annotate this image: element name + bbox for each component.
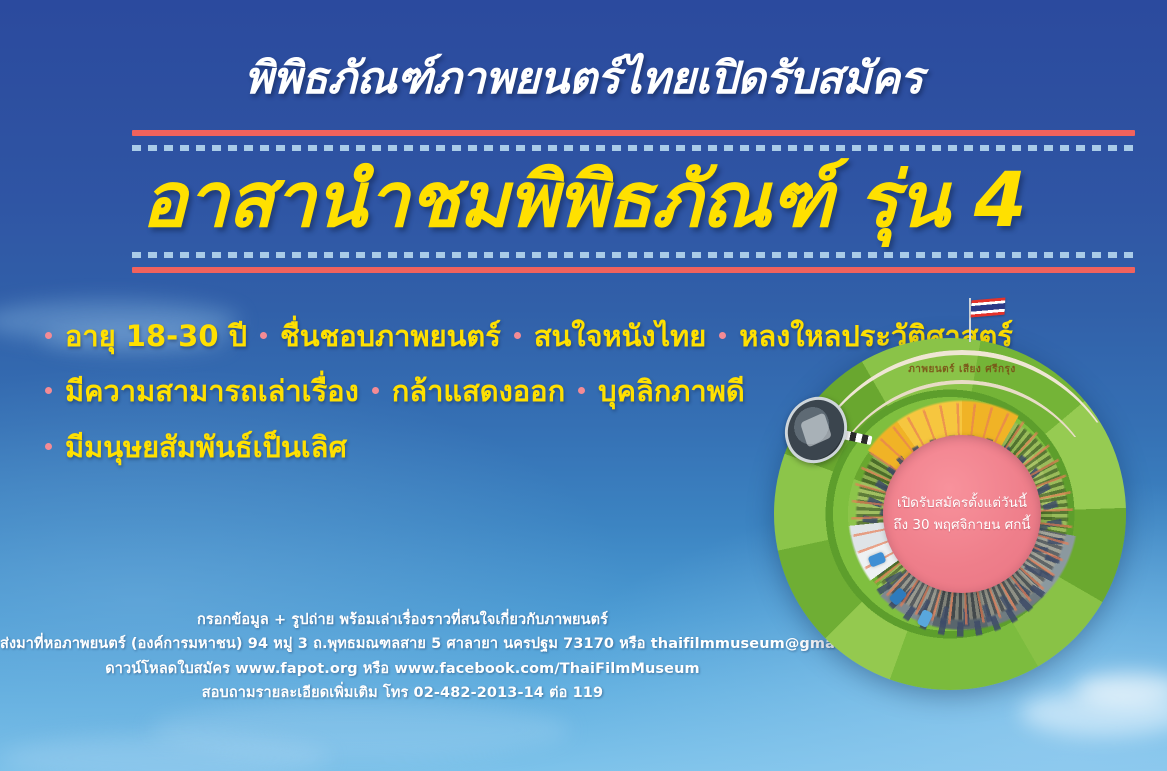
bullet-dot-icon — [45, 332, 52, 339]
qualification-item: สนใจหนังไทย — [534, 318, 706, 354]
divider-solid-line — [132, 267, 1135, 273]
bullet-dot-icon — [578, 387, 585, 394]
qualification-item: บุคลิกภาพดี — [598, 373, 745, 409]
footer-contact-block: กรอกข้อมูล + รูปถ่าย พร้อมเล่าเรื่องราวท… — [0, 608, 805, 705]
divider-top — [132, 130, 1135, 151]
bullet-dot-icon — [45, 387, 52, 394]
little-planet-photo: ภาพยนตร์ เสียง ศรีกรุง เปิดรับสมัครตั้งแ… — [762, 286, 1162, 736]
qualification-item: กล้าแสดงออก — [392, 373, 565, 409]
poster-headline: พิพิธภัณฑ์ภาพยนตร์ไทยเปิดรับสมัคร — [0, 57, 1167, 101]
footer-line-instructions: กรอกข้อมูล + รูปถ่าย พร้อมเล่าเรื่องราวท… — [0, 608, 805, 632]
cloud-decoration — [150, 700, 570, 760]
qualification-item: มีความสามารถเล่าเรื่อง — [65, 373, 359, 409]
divider-dashed-line — [132, 145, 1135, 151]
qualification-item: ชื่นชอบภาพยนตร์ — [280, 318, 501, 354]
divider-solid-line — [132, 130, 1135, 136]
poster-canvas: พิพิธภัณฑ์ภาพยนตร์ไทยเปิดรับสมัคร อาสานำ… — [0, 0, 1167, 771]
cloud-decoration — [0, 735, 330, 771]
poster-title: อาสานำชมพิพิธภัณฑ์ รุ่น 4 — [0, 160, 1167, 240]
qualification-item: มีมนุษยสัมพันธ์เป็นเลิศ — [65, 429, 347, 465]
qualification-item: อายุ 18-30 ปี — [65, 318, 247, 354]
footer-line-address: ส่งมาที่หอภาพยนตร์ (องค์การมหาชน) 94 หมู… — [0, 632, 805, 656]
thai-flag-icon — [971, 297, 1006, 317]
bullet-dot-icon — [45, 443, 52, 450]
footer-line-download: ดาวน์โหลดใบสมัคร www.fapot.org หรือ www.… — [0, 657, 805, 681]
orange-scaffolding — [786, 338, 1138, 690]
bullet-dot-icon — [719, 332, 726, 339]
footer-line-phone: สอบถามรายละเอียดเพิ่มเติม โทร 02-482-201… — [0, 681, 805, 705]
seal-inner-shape — [800, 412, 832, 447]
bullet-dot-icon — [260, 332, 267, 339]
bullet-dot-icon — [372, 387, 379, 394]
bullet-dot-icon — [514, 332, 521, 339]
divider-dashed-line — [132, 252, 1135, 258]
divider-bottom — [132, 252, 1135, 273]
